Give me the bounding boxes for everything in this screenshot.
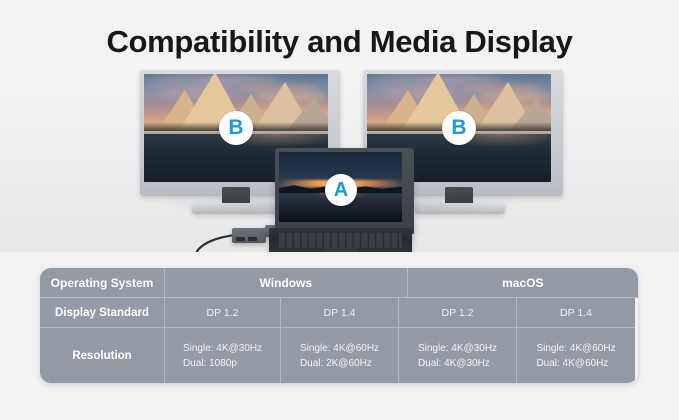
resolution-lines: Single: 4K@60Hz Dual: 4K@60Hz xyxy=(536,341,615,371)
laptop: A xyxy=(275,148,414,234)
page-title: Compatibility and Media Display xyxy=(0,24,679,60)
resolution-dual: Dual: 4K@60Hz xyxy=(536,356,615,371)
row-header-operating-system: Operating System xyxy=(40,268,165,298)
resolution-lines: Single: 4K@30Hz Dual: 1080p xyxy=(183,341,262,371)
table-row: Resolution Single: 4K@30Hz Dual: 1080p S… xyxy=(40,328,638,383)
resolution-dual: Dual: 1080p xyxy=(183,356,262,371)
resolution-lines: Single: 4K@60Hz Dual: 2K@60Hz xyxy=(300,341,379,371)
cell-resolution-macos-dp14: Single: 4K@60Hz Dual: 4K@60Hz xyxy=(517,328,635,383)
cell-resolution-windows-dp12: Single: 4K@30Hz Dual: 1080p xyxy=(165,328,281,383)
compatibility-table: Operating System Windows macOS Display S… xyxy=(40,268,638,383)
hub-port xyxy=(236,237,245,241)
cable-left-loop xyxy=(195,235,235,252)
trackpad xyxy=(323,248,357,252)
resolution-lines: Single: 4K@30Hz Dual: 4K@30Hz xyxy=(418,341,497,371)
group-header-macos: macOS xyxy=(408,268,638,298)
laptop-lid: A xyxy=(275,148,414,234)
laptop-screen: A xyxy=(279,152,402,222)
hub-port xyxy=(248,237,257,241)
table-row: Display Standard DP 1.2 DP 1.4 DP 1.2 DP… xyxy=(40,298,638,328)
product-scene: B xyxy=(0,62,679,252)
cell-display-standard-windows-dp12: DP 1.2 xyxy=(165,298,281,328)
keyboard-keys xyxy=(279,233,402,249)
resolution-single: Single: 4K@30Hz xyxy=(183,341,262,356)
row-header-display-standard: Display Standard xyxy=(40,298,165,328)
cell-resolution-macos-dp12: Single: 4K@30Hz Dual: 4K@30Hz xyxy=(399,328,517,383)
resolution-single: Single: 4K@30Hz xyxy=(418,341,497,356)
cell-display-standard-macos-dp12: DP 1.2 xyxy=(399,298,517,328)
cell-display-standard-windows-dp14: DP 1.4 xyxy=(281,298,399,328)
resolution-single: Single: 4K@60Hz xyxy=(300,341,379,356)
cell-resolution-windows-dp14: Single: 4K@60Hz Dual: 2K@60Hz xyxy=(281,328,399,383)
badge-laptop: A xyxy=(325,174,357,206)
laptop-keyboard xyxy=(269,228,412,252)
resolution-dual: Dual: 4K@30Hz xyxy=(418,356,497,371)
cell-display-standard-macos-dp14: DP 1.4 xyxy=(517,298,635,328)
badge-monitor-left: B xyxy=(219,111,253,145)
page-root: Compatibility and Media Display xyxy=(0,0,679,420)
resolution-dual: Dual: 2K@60Hz xyxy=(300,356,379,371)
badge-monitor-right: B xyxy=(442,111,476,145)
table-row: Operating System Windows macOS xyxy=(40,268,638,298)
group-header-windows: Windows xyxy=(165,268,408,298)
row-header-resolution: Resolution xyxy=(40,328,165,383)
resolution-single: Single: 4K@60Hz xyxy=(536,341,615,356)
usb-hub xyxy=(232,228,266,243)
